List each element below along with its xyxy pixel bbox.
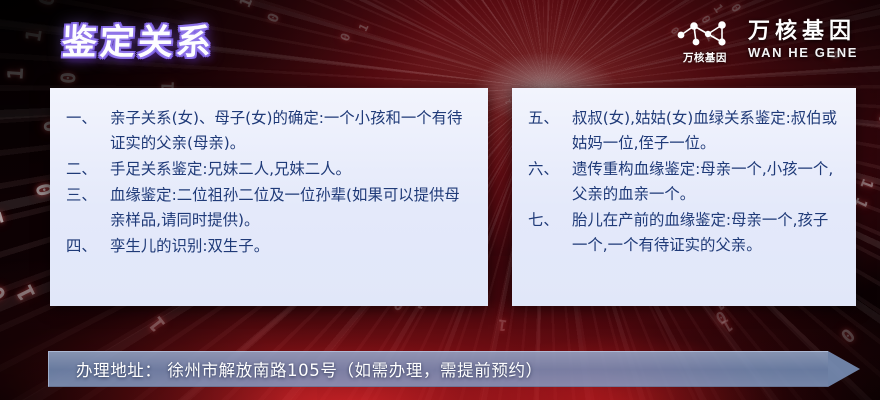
list-item-number: 四、 bbox=[66, 234, 110, 259]
address-banner-text: 办理地址： 徐州市解放南路105号（如需办理，需提前预约） bbox=[76, 351, 543, 387]
list-item: 三、血缘鉴定:二位祖孙二位及一位孙辈(如果可以提供母亲样品,请同时提供)。 bbox=[66, 183, 474, 233]
list-item-number: 二、 bbox=[66, 157, 110, 182]
address-banner-arrow-icon bbox=[828, 351, 860, 387]
list-item-text: 手足关系鉴定:兄妹二人,兄妹二人。 bbox=[110, 157, 474, 182]
logo-name-cn: 万核基因 bbox=[748, 19, 858, 44]
list-item-number: 五、 bbox=[528, 106, 572, 131]
logo-wordmark: 万核基因 WAN HE GENE bbox=[748, 19, 858, 60]
address-banner: 办理地址： 徐州市解放南路105号（如需办理，需提前预约） bbox=[48, 351, 860, 387]
list-item: 四、孪生儿的识别:双生子。 bbox=[66, 234, 474, 259]
molecule-nodes-icon: 万核基因 bbox=[672, 16, 738, 64]
list-item: 五、叔叔(女),姑姑(女)血绿关系鉴定:叔伯或姑妈一位,侄子一位。 bbox=[528, 106, 842, 156]
list-item-text: 胎儿在产前的血缘鉴定:母亲一个,孩子一个,一个有待证实的父亲。 bbox=[572, 208, 842, 258]
list-item-number: 一、 bbox=[66, 106, 110, 131]
list-item-text: 血缘鉴定:二位祖孙二位及一位孙辈(如果可以提供母亲样品,请同时提供)。 bbox=[110, 183, 474, 233]
logo-name-en: WAN HE GENE bbox=[748, 46, 858, 61]
list-item-number: 七、 bbox=[528, 208, 572, 233]
list-item-text: 亲子关系(女)、母子(女)的确定:一个小孩和一个有待证实的父亲(母亲)。 bbox=[110, 106, 474, 156]
list-item: 二、手足关系鉴定:兄妹二人,兄妹二人。 bbox=[66, 157, 474, 182]
page-title: 鉴定关系 bbox=[61, 14, 216, 65]
list-item: 七、胎儿在产前的血缘鉴定:母亲一个,孩子一个,一个有待证实的父亲。 bbox=[528, 208, 842, 258]
content-panel-left: 一、亲子关系(女)、母子(女)的确定:一个小孩和一个有待证实的父亲(母亲)。二、… bbox=[50, 88, 488, 306]
list-item-text: 孪生儿的识别:双生子。 bbox=[110, 234, 474, 259]
list-item-text: 叔叔(女),姑姑(女)血绿关系鉴定:叔伯或姑妈一位,侄子一位。 bbox=[572, 106, 842, 156]
brand-logo: 万核基因 万核基因 WAN HE GENE bbox=[672, 16, 858, 64]
list-item: 六、遗传重构血缘鉴定:母亲一个,小孩一个,父亲的血亲一个。 bbox=[528, 157, 842, 207]
list-item-text: 遗传重构血缘鉴定:母亲一个,小孩一个,父亲的血亲一个。 bbox=[572, 157, 842, 207]
list-item-number: 三、 bbox=[66, 183, 110, 208]
logo-mark-caption: 万核基因 bbox=[672, 50, 738, 65]
list-item-number: 六、 bbox=[528, 157, 572, 182]
list-item: 一、亲子关系(女)、母子(女)的确定:一个小孩和一个有待证实的父亲(母亲)。 bbox=[66, 106, 474, 156]
slide-canvas: 1110011011000110011010100110011110011000… bbox=[0, 0, 880, 400]
content-panel-right: 五、叔叔(女),姑姑(女)血绿关系鉴定:叔伯或姑妈一位,侄子一位。六、遗传重构血… bbox=[512, 88, 856, 306]
